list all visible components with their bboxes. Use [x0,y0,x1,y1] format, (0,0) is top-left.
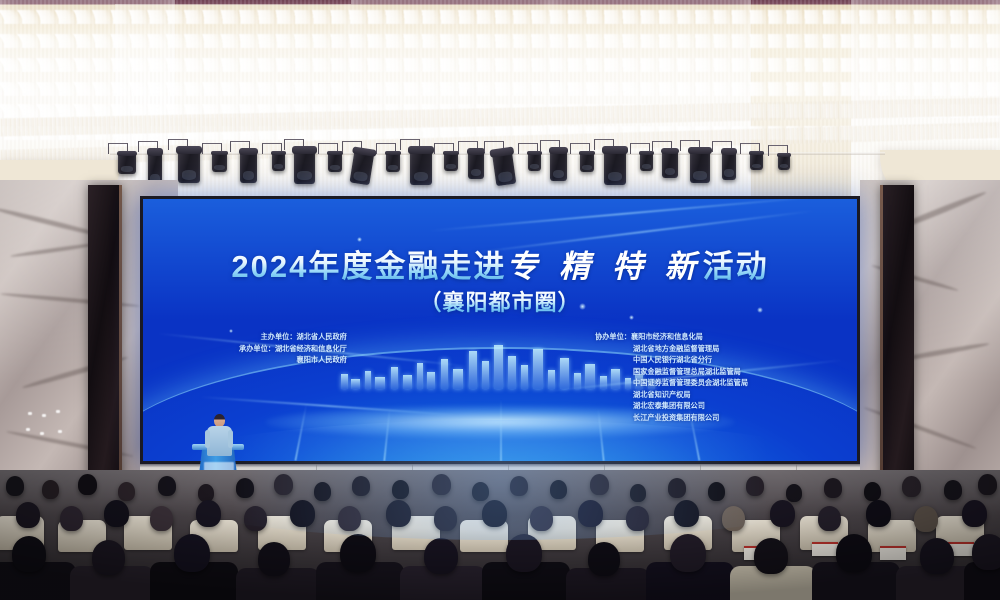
co-organizer-row: 协办单位：襄阳市经济和信息化局 [595,331,748,343]
event-title-part2: 专 精 特 新 [506,249,702,284]
skyline-building [585,364,595,389]
skyline-building [533,349,543,389]
co-organizer-row: 中国证券监督管理委员会湖北监管局 [633,377,748,389]
organizer-value: 襄阳市人民政府 [297,355,347,364]
co-organizer-value: 湖北省知识产权局 [633,390,691,399]
presenter-arm [228,430,233,448]
skyline-building [441,359,448,389]
led-screen: 2024年度金融走进专 精 特 新活动 （襄阳都市圈） 主办单位：湖北省人民政府… [140,196,860,464]
audience-vignette [0,470,1000,600]
organizer-row: 主办单位：湖北省人民政府 [239,331,347,343]
co-organizer-value: 中国人民银行湖北省分行 [633,355,712,364]
skyline-building [521,365,528,389]
presenter-arm [205,430,210,448]
organizer-row: 襄阳市人民政府 [239,354,347,366]
speaker-column-right [880,185,914,515]
conference-hall-photo: 2024年度金融走进专 精 特 新活动 （襄阳都市圈） 主办单位：湖北省人民政府… [0,0,1000,600]
co-organizer-value: 襄阳市经济和信息化局 [631,332,703,341]
skyline-building [508,356,516,389]
co-organizer-value: 国家金融监督管理总局湖北监管局 [633,367,741,376]
skyline-building [351,379,360,389]
co-organizer-row: 中国人民银行湖北省分行 [633,354,748,366]
wall-light-reflection [58,430,62,433]
wall-light-reflection [26,428,30,431]
skyline-building [574,373,581,389]
ceiling-wave [0,58,1000,72]
organizer-row: 承办单位：湖北省经济和信息化厅 [239,343,347,355]
co-organizer-row: 湖北省地方金融监督管理局 [633,343,748,355]
organizer-value: 湖北省经济和信息化厅 [275,344,347,353]
screen-particle [629,315,634,320]
event-title: 2024年度金融走进专 精 特 新活动 [143,251,857,282]
ceiling-wave [0,10,1000,24]
co-organizer-value: 中国证券监督管理委员会湖北监管局 [633,378,748,387]
event-title-part1: 2024年度金融走进 [231,249,506,284]
presenter [206,414,232,454]
wall-light-reflection [56,410,60,413]
skyline-building [391,367,398,389]
skyline-building [365,371,371,389]
screen-particle [229,329,233,333]
speaker-column-left [88,185,122,515]
co-organizer-row: 湖北宏泰集团有限公司 [633,400,748,412]
ceiling-wave [0,34,1000,48]
skyline-building [548,370,555,389]
skyline-building [482,361,489,389]
skyline-building [494,345,503,389]
organizer-label: 主办单位： [261,332,297,341]
skyline-building [427,372,435,389]
led-screen-surface: 2024年度金融走进专 精 特 新活动 （襄阳都市圈） 主办单位：湖北省人民政府… [143,199,857,461]
ceiling-wave [0,82,1000,96]
co-organizer-value: 湖北省地方金融监督管理局 [633,344,719,353]
co-organizer-value: 长江产业投资集团有限公司 [633,413,719,422]
co-organizer-label: 协办单位： [595,332,631,341]
skyline-building [375,377,385,389]
organizers-left: 主办单位：湖北省人民政府 承办单位：湖北省经济和信息化厅 襄阳市人民政府 [239,331,347,366]
skyline-building [560,358,569,389]
skyline-building [453,369,463,389]
co-organizer-row: 湖北省知识产权局 [633,389,748,401]
wall-light-reflection [42,414,46,417]
organizer-value: 湖北省人民政府 [297,332,347,341]
wall-light-reflection [40,432,44,435]
organizer-label: 承办单位： [239,344,275,353]
skyline-building [469,351,477,389]
co-organizer-row: 长江产业投资集团有限公司 [633,412,748,424]
skyline-building [417,363,423,389]
screen-ray [500,399,502,461]
co-organizer-row: 国家金融监督管理总局湖北监管局 [633,366,748,378]
skyline-building [341,374,348,389]
wall-light-reflection [28,412,32,415]
organizers-right: 协办单位：襄阳市经济和信息化局 湖北省地方金融监督管理局 中国人民银行湖北省分行… [595,331,748,423]
event-subtitle: （襄阳都市圈） [143,292,857,314]
co-organizer-value: 湖北宏泰集团有限公司 [633,401,705,410]
event-title-part3: 活动 [703,249,769,284]
audience [0,470,1000,600]
skyline-building [403,375,412,389]
